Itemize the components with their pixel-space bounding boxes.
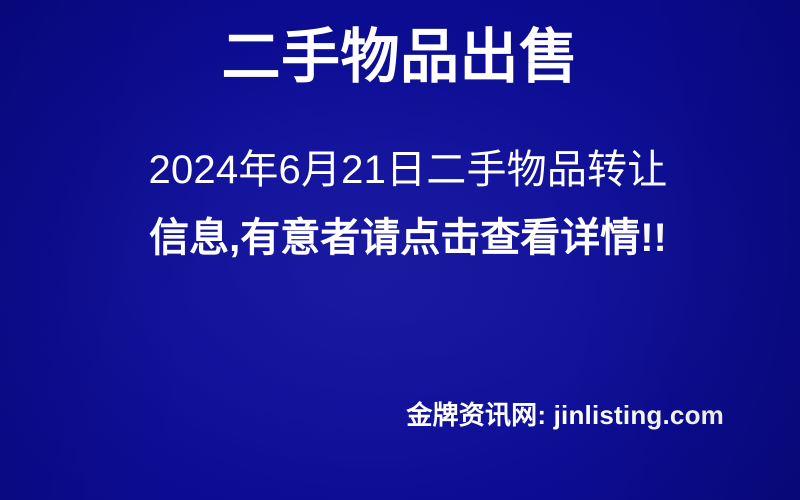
advertisement-banner[interactable]: 二手物品出售 2024年6月21日二手物品转让 信息,有意者请点击查看详情!! … (0, 0, 800, 500)
body-line-1: 2024年6月21日二手物品转让 (86, 136, 730, 204)
body-line-2: 信息,有意者请点击查看详情!! (86, 204, 730, 272)
banner-body-text: 2024年6月21日二手物品转让 信息,有意者请点击查看详情!! (86, 136, 730, 272)
banner-title-row: 二手物品出售 (0, 24, 800, 90)
site-attribution[interactable]: 金牌资讯网: jinlisting.com (406, 398, 724, 432)
banner-footer-row: 金牌资讯网: jinlisting.com (0, 398, 724, 432)
page-title: 二手物品出售 (221, 24, 578, 90)
